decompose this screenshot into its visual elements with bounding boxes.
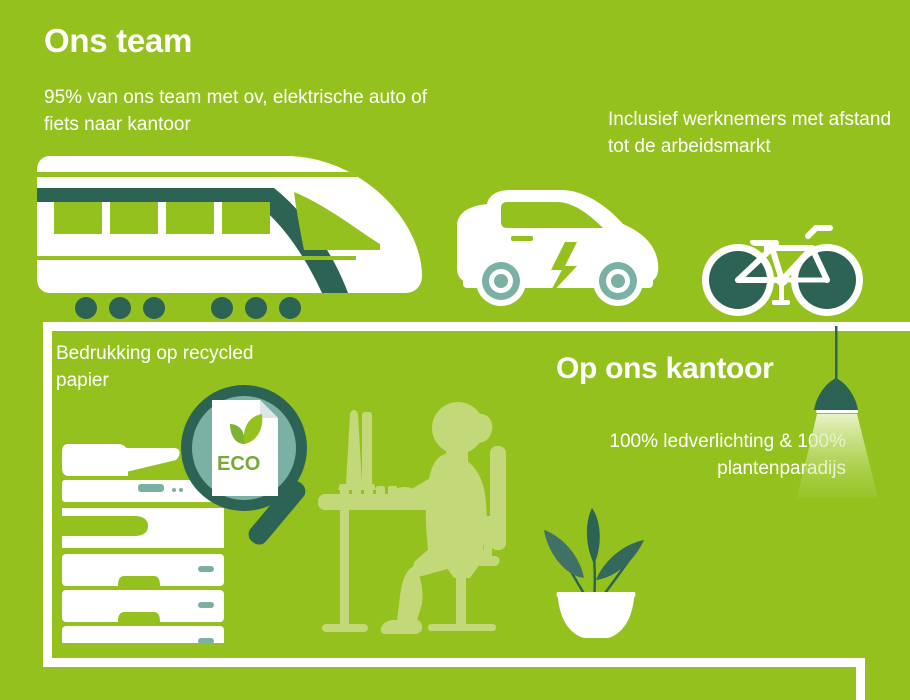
inclusive-employees-note: Inclusief werknemers met afstand tot de …: [608, 106, 908, 160]
bicycle-icon: [700, 218, 865, 323]
train-icon: [36, 150, 431, 325]
desk-worker-icon: [318, 398, 543, 653]
eco-document: ECO: [212, 400, 278, 496]
office-heading: Op ons kantoor: [556, 352, 773, 386]
office-frame-top-edge: [43, 322, 910, 331]
pendant-lamp-icon: [796, 326, 896, 506]
electric-car-icon: [455, 180, 670, 320]
potted-plant-icon: [532, 492, 682, 652]
office-frame-left-edge: [43, 322, 52, 667]
infographic-canvas: Ons team 95% van ons team met ov, elektr…: [0, 0, 910, 700]
team-heading: Ons team: [44, 22, 192, 60]
office-frame-right-edge: [856, 658, 865, 700]
office-frame-bottom-edge: [43, 658, 865, 667]
eco-badge-label: ECO: [217, 453, 260, 475]
team-subtext: 95% van ons team met ov, elektrische aut…: [44, 84, 464, 138]
